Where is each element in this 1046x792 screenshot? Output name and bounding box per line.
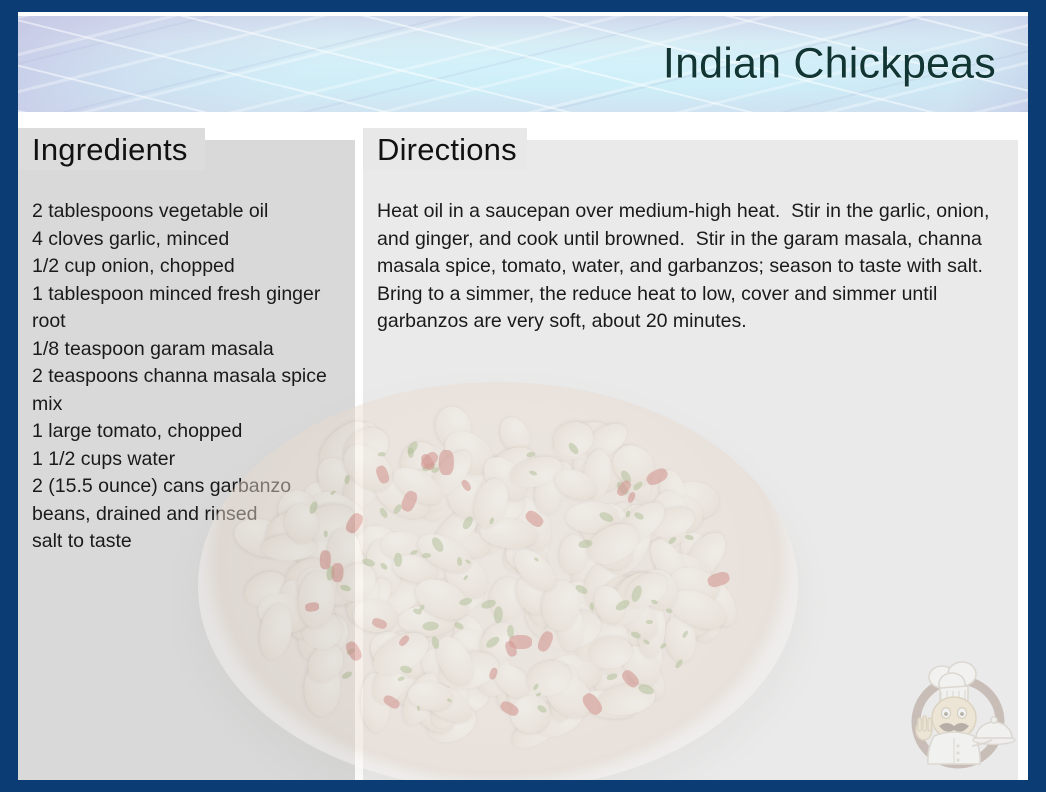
recipe-slide: Indian Chickpeas Ingredients 2 tablespoo… (0, 0, 1046, 792)
directions-heading: Directions (363, 128, 527, 170)
directions-text: Heat oil in a saucepan over medium-high … (377, 198, 1008, 336)
directions-panel: Directions Heat oil in a saucepan over m… (363, 128, 1018, 780)
ingredients-panel: Ingredients 2 tablespoons vegetable oil … (18, 128, 355, 780)
content-area: Ingredients 2 tablespoons vegetable oil … (18, 128, 1028, 780)
directions-body: Heat oil in a saucepan over medium-high … (363, 180, 1018, 348)
ingredients-body: 2 tablespoons vegetable oil 4 cloves gar… (18, 180, 355, 568)
ingredients-heading: Ingredients (18, 128, 205, 170)
page-title: Indian Chickpeas (663, 40, 996, 89)
slide-canvas: Indian Chickpeas Ingredients 2 tablespoo… (18, 12, 1028, 780)
header-banner: Indian Chickpeas (18, 16, 1028, 112)
ingredients-list: 2 tablespoons vegetable oil 4 cloves gar… (32, 198, 341, 556)
